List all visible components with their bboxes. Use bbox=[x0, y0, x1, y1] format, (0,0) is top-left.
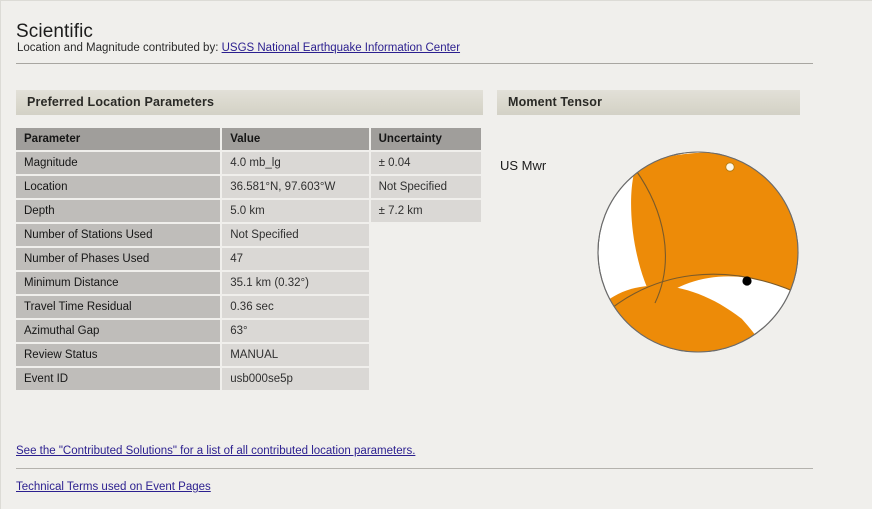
row-label: Minimum Distance bbox=[16, 272, 220, 294]
row-label: Azimuthal Gap bbox=[16, 320, 220, 342]
scientific-page: Scientific Location and Magnitude contri… bbox=[0, 0, 872, 509]
section-header-moment-tensor: Moment Tensor bbox=[497, 90, 800, 115]
technical-terms-line: Technical Terms used on Event Pages bbox=[16, 481, 211, 493]
row-value: usb000se5p bbox=[222, 368, 368, 390]
table-row: Location 36.581°N, 97.603°W Not Specifie… bbox=[16, 176, 481, 198]
beachball-diagram bbox=[595, 151, 805, 361]
table-row: Magnitude 4.0 mb_lg ± 0.04 bbox=[16, 152, 481, 174]
preferred-location-parameters-table: Parameter Value Uncertainty Magnitude 4.… bbox=[14, 126, 483, 392]
section-header-preferred-location: Preferred Location Parameters bbox=[16, 90, 483, 115]
row-uncertainty-empty bbox=[371, 368, 481, 390]
row-label: Travel Time Residual bbox=[16, 296, 220, 318]
column-header-uncertainty: Uncertainty bbox=[371, 128, 481, 150]
moment-tensor-body: US Mwr bbox=[497, 115, 813, 390]
row-uncertainty: Not Specified bbox=[371, 176, 481, 198]
attribution-prefix: Location and Magnitude contributed by: bbox=[17, 42, 218, 54]
row-uncertainty-empty bbox=[371, 248, 481, 270]
table-header-row: Parameter Value Uncertainty bbox=[16, 128, 481, 150]
row-value: 35.1 km (0.32°) bbox=[222, 272, 368, 294]
usgs-neic-link[interactable]: USGS National Earthquake Information Cen… bbox=[222, 42, 460, 54]
moment-tensor-solution-label: US Mwr bbox=[500, 158, 546, 173]
row-label: Review Status bbox=[16, 344, 220, 366]
table-row: Number of Phases Used 47 bbox=[16, 248, 481, 270]
column-header-value: Value bbox=[222, 128, 368, 150]
moment-tensor-panel: Moment Tensor US Mwr bbox=[497, 90, 813, 390]
preferred-location-parameters-panel: Preferred Location Parameters Parameter … bbox=[16, 90, 483, 392]
row-uncertainty-empty bbox=[371, 272, 481, 294]
table-row: Minimum Distance 35.1 km (0.32°) bbox=[16, 272, 481, 294]
table-row: Depth 5.0 km ± 7.2 km bbox=[16, 200, 481, 222]
row-value: 4.0 mb_lg bbox=[222, 152, 368, 174]
row-value: 5.0 km bbox=[222, 200, 368, 222]
row-uncertainty-empty bbox=[371, 320, 481, 342]
footer-divider bbox=[16, 468, 813, 469]
column-header-parameter: Parameter bbox=[16, 128, 220, 150]
row-uncertainty: ± 7.2 km bbox=[371, 200, 481, 222]
row-uncertainty-empty bbox=[371, 344, 481, 366]
row-label: Number of Phases Used bbox=[16, 248, 220, 270]
technical-terms-link[interactable]: Technical Terms used on Event Pages bbox=[16, 481, 211, 493]
row-value: 47 bbox=[222, 248, 368, 270]
row-value: 36.581°N, 97.603°W bbox=[222, 176, 368, 198]
row-uncertainty-empty bbox=[371, 296, 481, 318]
table-row: Azimuthal Gap 63° bbox=[16, 320, 481, 342]
row-value: 63° bbox=[222, 320, 368, 342]
row-label: Event ID bbox=[16, 368, 220, 390]
row-uncertainty: ± 0.04 bbox=[371, 152, 481, 174]
row-label: Number of Stations Used bbox=[16, 224, 220, 246]
contributed-solutions-link[interactable]: See the "Contributed Solutions" for a li… bbox=[16, 445, 415, 457]
header-divider bbox=[16, 63, 813, 64]
contributed-solutions-line: See the "Contributed Solutions" for a li… bbox=[16, 445, 415, 457]
attribution-line: Location and Magnitude contributed by: U… bbox=[17, 42, 460, 54]
row-label: Depth bbox=[16, 200, 220, 222]
pressure-axis-marker-icon bbox=[742, 276, 751, 285]
table-row: Event ID usb000se5p bbox=[16, 368, 481, 390]
row-value: Not Specified bbox=[222, 224, 368, 246]
page-title: Scientific bbox=[16, 21, 93, 43]
row-value: 0.36 sec bbox=[222, 296, 368, 318]
row-label: Location bbox=[16, 176, 220, 198]
table-row: Review Status MANUAL bbox=[16, 344, 481, 366]
table-row: Travel Time Residual 0.36 sec bbox=[16, 296, 481, 318]
tension-axis-marker-icon bbox=[726, 163, 734, 171]
row-label: Magnitude bbox=[16, 152, 220, 174]
row-uncertainty-empty bbox=[371, 224, 481, 246]
row-value: MANUAL bbox=[222, 344, 368, 366]
table-row: Number of Stations Used Not Specified bbox=[16, 224, 481, 246]
